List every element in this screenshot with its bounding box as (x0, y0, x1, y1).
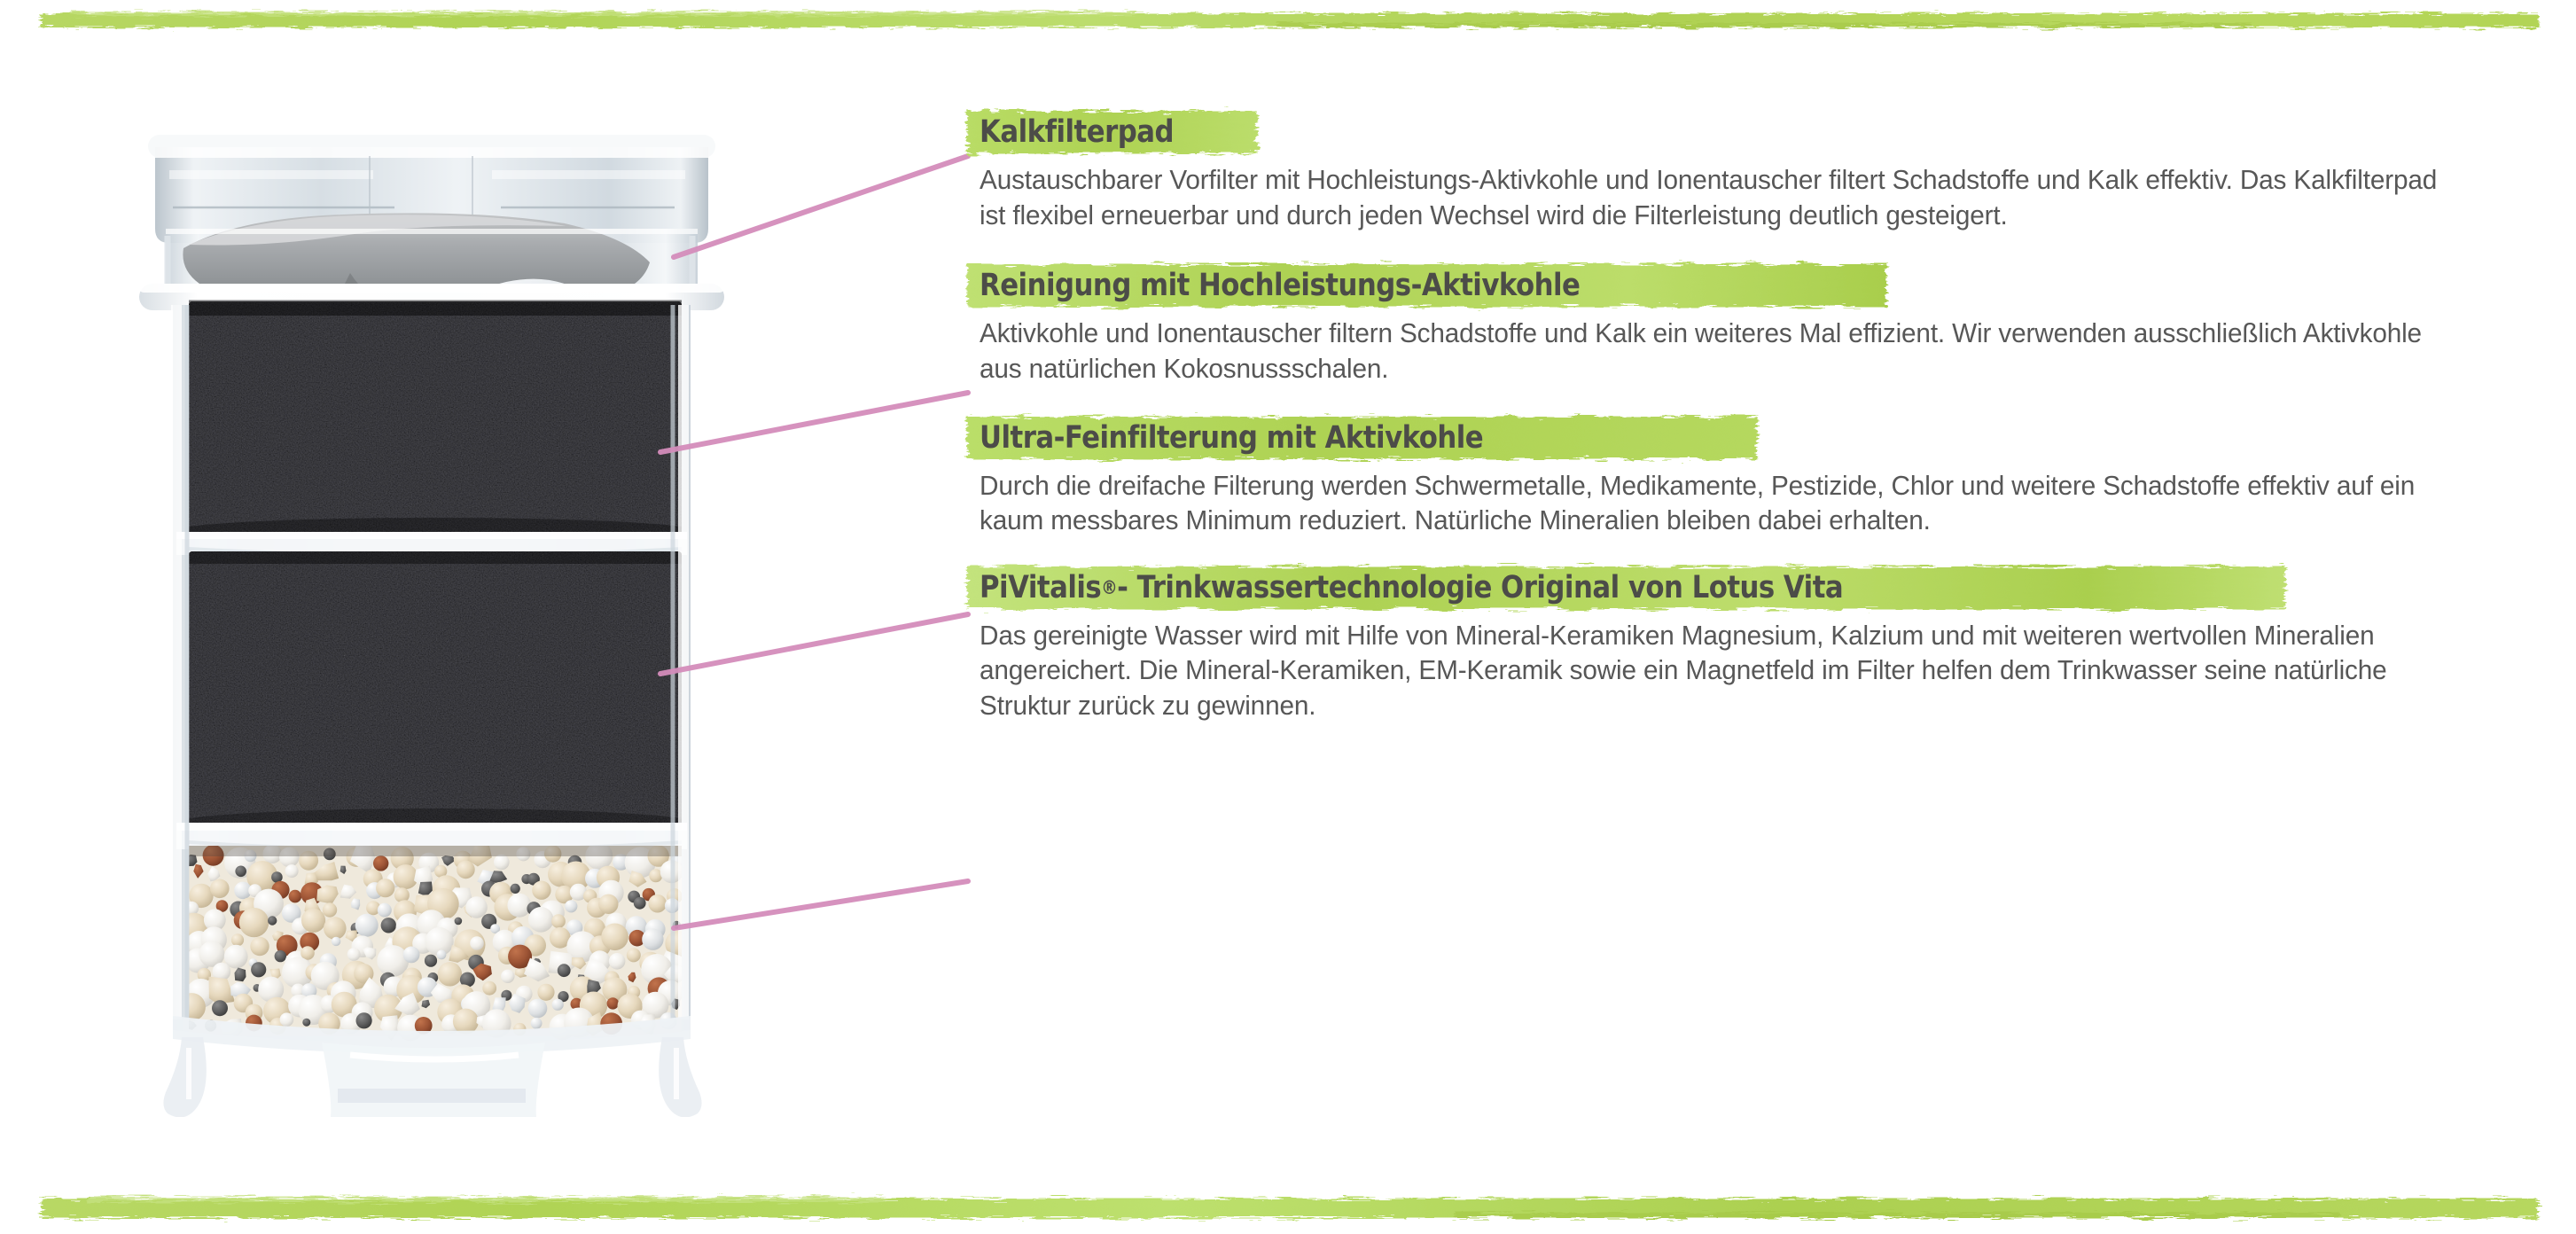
heading-wrapper-ultrafein: Ultra-Feinfilterung mit Aktivkohle (980, 412, 2540, 464)
heading-pivitalis-rest: - Trinkwassertechnologie Original von Lo… (1117, 570, 1843, 605)
body-pivitalis: Das gereinigte Wasser wird mit Hilfe von… (980, 619, 2466, 724)
heading-pivitalis: PiVitalis®- Trinkwassertechnologie Origi… (980, 562, 1843, 613)
cartridge-base-stand (163, 1016, 701, 1117)
infographic-stage: Kalkfilterpad Austauschbarer Vorfilter m… (0, 0, 2576, 1234)
heading-wrapper-pivitalis: PiVitalis®- Trinkwassertechnologie Origi… (980, 562, 2540, 613)
heading-ultrafein: Ultra-Feinfilterung mit Aktivkohle (980, 412, 1483, 464)
copy-column: Kalkfilterpad Austauschbarer Vorfilter m… (980, 106, 2540, 724)
heading-pivitalis-main: PiVitalis (980, 570, 1101, 605)
heading-kalkfilterpad: Kalkfilterpad (980, 106, 1174, 158)
section-kalkfilterpad: Kalkfilterpad Austauschbarer Vorfilter m… (980, 106, 2540, 233)
heading-wrapper-kalkfilterpad: Kalkfilterpad (980, 106, 2540, 158)
green-brush-rule-bottom (35, 1188, 2544, 1230)
body-ultrafein: Durch die dreifache Filterung werden Sch… (980, 469, 2466, 539)
activated-carbon-layer-lower (169, 551, 701, 840)
section-reinigung-aktivkohle: Reinigung mit Hochleistungs-Aktivkohle A… (980, 260, 2540, 387)
activated-carbon-layer-upper (169, 301, 701, 546)
body-reinigung: Aktivkohle und Ionentauscher filtern Sch… (980, 316, 2466, 387)
filter-cartridge-illustration (84, 115, 785, 1117)
body-kalkfilterpad: Austauschbarer Vorfilter mit Hochleistun… (980, 163, 2466, 233)
cartridge-body (169, 301, 701, 1043)
section-ultra-feinfilterung: Ultra-Feinfilterung mit Aktivkohle Durch… (980, 412, 2540, 539)
green-brush-rule-top (35, 5, 2544, 35)
mineral-ceramic-bead-layer (177, 840, 691, 1041)
heading-wrapper-reinigung: Reinigung mit Hochleistungs-Aktivkohle (980, 260, 2540, 311)
heading-reinigung: Reinigung mit Hochleistungs-Aktivkohle (980, 260, 1580, 311)
section-pivitalis: PiVitalis®- Trinkwassertechnologie Origi… (980, 562, 2540, 724)
